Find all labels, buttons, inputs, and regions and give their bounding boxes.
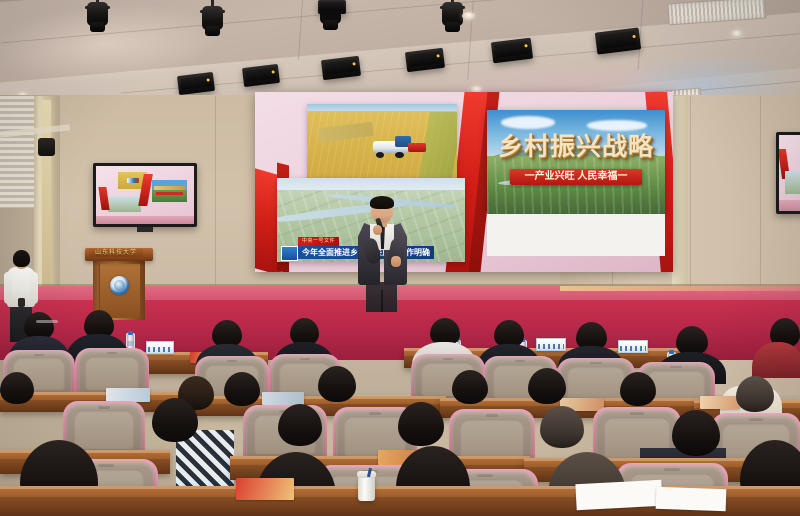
left-monitor-mount bbox=[137, 227, 153, 232]
audience-head bbox=[224, 372, 260, 406]
left-wall-monitor bbox=[93, 163, 197, 227]
eyeglasses-icon bbox=[36, 320, 58, 323]
stage-trim-highlight bbox=[560, 286, 800, 291]
audience-head bbox=[620, 372, 656, 406]
wall-grille bbox=[0, 96, 35, 208]
audience-head bbox=[318, 366, 356, 402]
news-channel-logo bbox=[281, 246, 298, 261]
news-banner-top-label: 中央一号文件 bbox=[298, 237, 339, 246]
wall-panel-seam bbox=[215, 96, 216, 296]
ceiling-downlight bbox=[462, 12, 475, 20]
handout-papers bbox=[656, 487, 727, 511]
audience-head bbox=[540, 406, 584, 448]
audience-head bbox=[452, 370, 488, 404]
audience-shoulders bbox=[752, 342, 800, 378]
wall-panel-seam bbox=[760, 96, 761, 296]
poster-title: 乡村振兴战略 bbox=[498, 135, 655, 160]
slide-white-strip bbox=[487, 214, 665, 256]
conference-brochure bbox=[700, 396, 740, 409]
university-emblem-icon bbox=[110, 276, 129, 295]
poster-subtitle: 一产业兴旺 人民幸福一 bbox=[510, 169, 642, 185]
right-wall-monitor bbox=[776, 132, 800, 214]
podium-university-name: 山东科技大学 bbox=[91, 249, 141, 257]
slide-photo-harvester bbox=[307, 104, 457, 184]
ceiling-downlight bbox=[730, 30, 743, 38]
audience-head bbox=[736, 376, 774, 412]
audience-head bbox=[0, 372, 34, 404]
handout-papers bbox=[106, 388, 150, 402]
wall-panel-seam bbox=[690, 96, 691, 296]
thermos-cup bbox=[358, 476, 375, 501]
wall-pilaster bbox=[672, 96, 688, 296]
audience-head bbox=[152, 398, 198, 442]
ceiling-speaker bbox=[318, 0, 346, 14]
main-led-screen: 中央一号文件 今年全面推进乡村振兴重点工作明确 乡村振兴战略 一产业兴旺 人民幸… bbox=[255, 92, 673, 272]
presenter bbox=[356, 198, 408, 310]
audience-head bbox=[528, 368, 566, 404]
name-placard bbox=[536, 338, 566, 351]
audience-head bbox=[398, 402, 444, 446]
handout-papers bbox=[575, 480, 662, 510]
ceiling-spotlight bbox=[85, 2, 111, 36]
name-placard bbox=[146, 341, 174, 354]
ceiling-spotlight bbox=[440, 2, 466, 36]
audience-head bbox=[672, 410, 720, 456]
conference-hall-photo: 中央一号文件 今年全面推进乡村振兴重点工作明确 乡村振兴战略 一产业兴旺 人民幸… bbox=[0, 0, 800, 516]
combine-harvester-icon bbox=[373, 136, 424, 157]
ceiling-spotlight bbox=[200, 6, 226, 40]
pillar-light-fixture bbox=[38, 138, 55, 156]
slide-poster-rural-revitalization: 乡村振兴战略 一产业兴旺 人民幸福一 bbox=[487, 110, 665, 214]
conference-brochure bbox=[236, 478, 294, 500]
audience-head bbox=[278, 404, 322, 446]
name-placard bbox=[618, 340, 648, 353]
